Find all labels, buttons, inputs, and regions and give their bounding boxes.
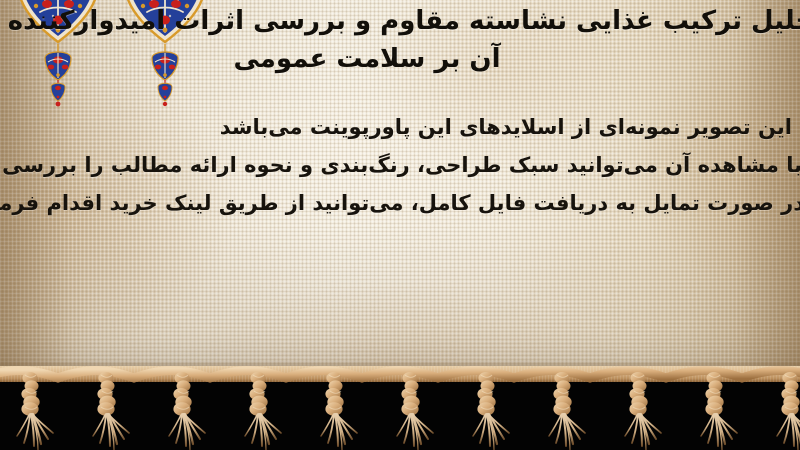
tassel-svg [0,366,800,450]
tassel-fringe-band [0,366,800,450]
title-line-1: تحلیل ترکیب غذایی نشاسته مقاوم و بررسی ا… [4,2,800,40]
presentation-slide: تحلیل ترکیب غذایی نشاسته مقاوم و بررسی ا… [0,0,800,450]
title-line-2: آن بر سلامت عمومی [4,40,800,78]
body-line-3: در صورت تمایل به دریافت فایل کامل، می‌تو… [0,184,800,222]
body-line-1: این تصویر نمونه‌ای از اسلایدهای این پاور… [0,108,800,146]
slide-title: تحلیل ترکیب غذایی نشاسته مقاوم و بررسی ا… [0,2,800,78]
slide-body: این تصویر نمونه‌ای از اسلایدهای این پاور… [0,108,800,222]
body-line-2: با مشاهده آن می‌توانید سبک طراحی، رنگ‌بن… [0,146,800,184]
fringe-scallop-cord [0,371,800,379]
slide-text-layer: تحلیل ترکیب غذایی نشاسته مقاوم و بررسی ا… [0,0,800,378]
tassel-row [0,366,800,450]
